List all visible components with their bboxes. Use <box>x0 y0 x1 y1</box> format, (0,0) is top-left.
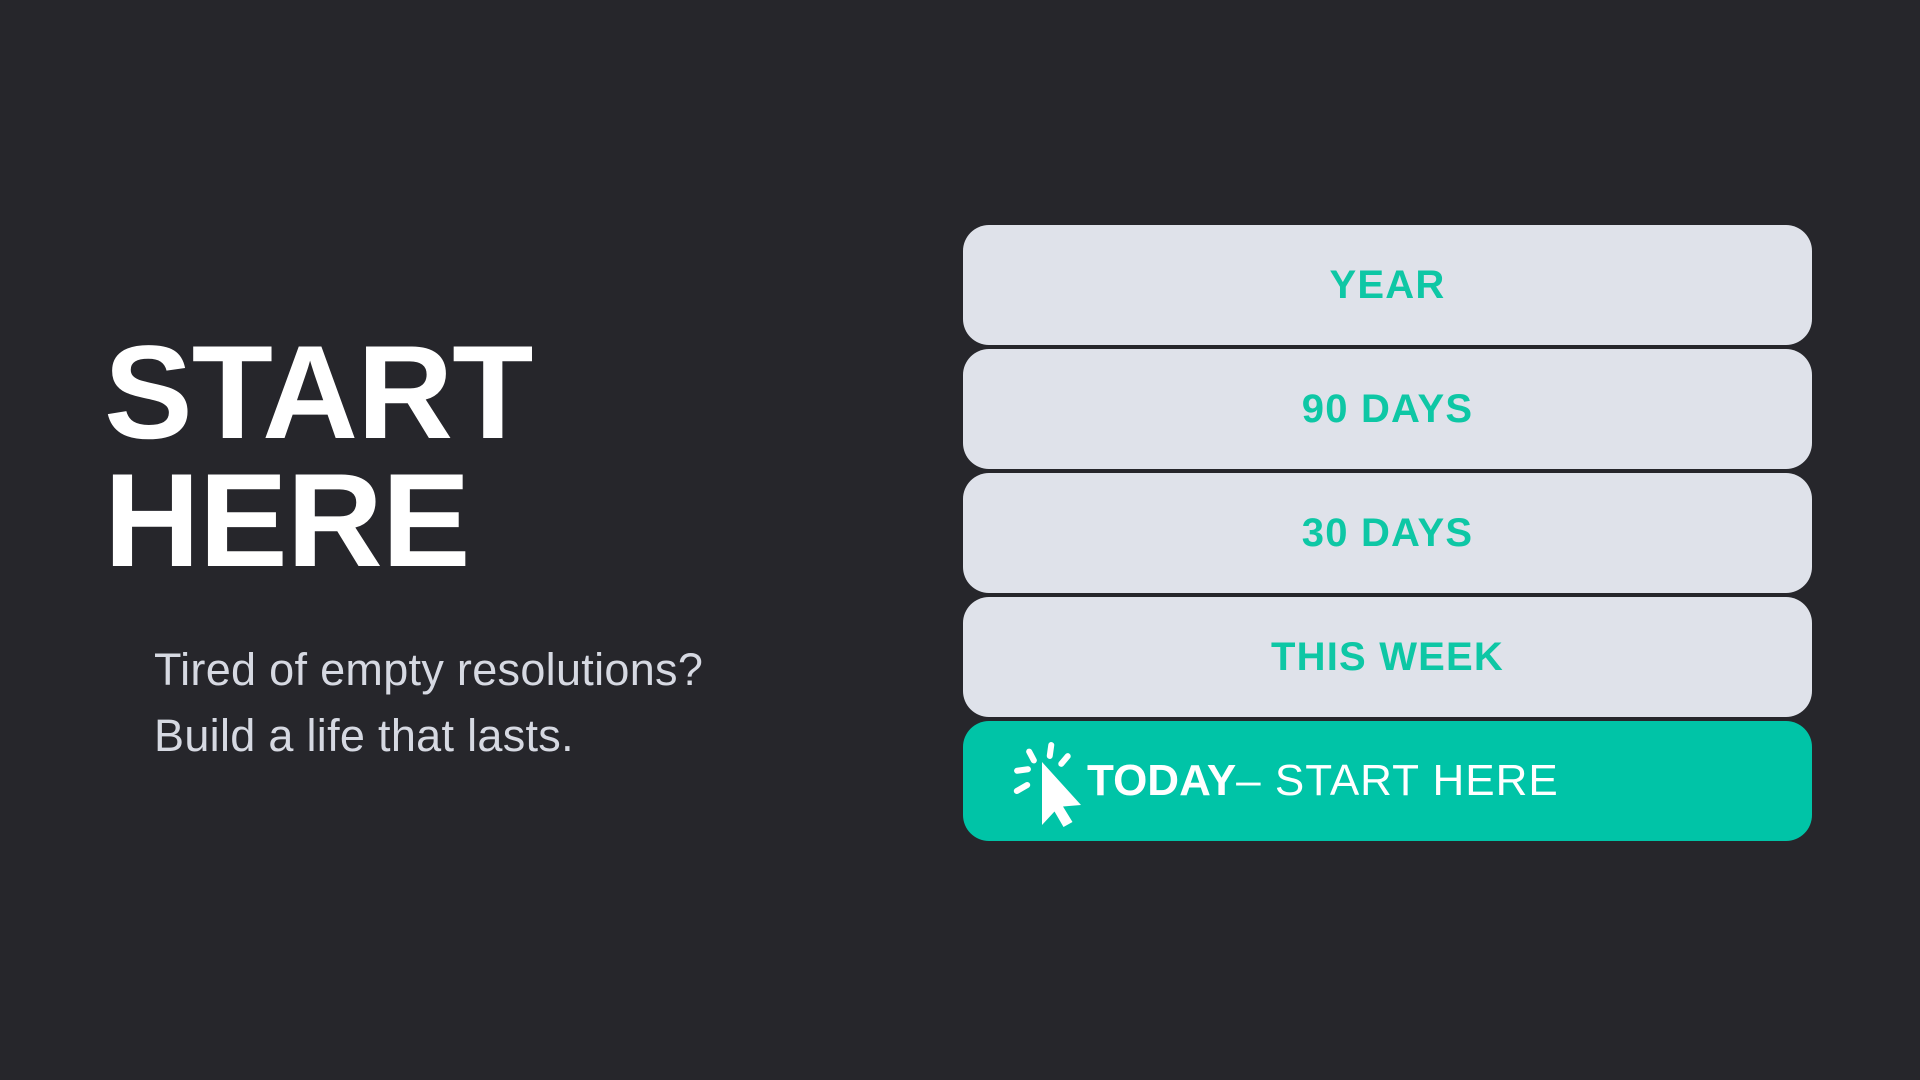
timeframe-button-today-start-here[interactable]: TODAY – START HERE <box>963 721 1812 841</box>
page-title: START HERE <box>104 330 904 585</box>
cta-label-strong: TODAY <box>1087 756 1236 806</box>
timeframe-button-90-days[interactable]: 90 DAYS <box>963 349 1812 469</box>
hero-copy-column: START HERE Tired of empty resolutions? B… <box>104 330 904 768</box>
timeframe-label-this-week: THIS WEEK <box>1271 635 1504 680</box>
hero-subtitle-line-2: Build a life that lasts. <box>154 703 904 768</box>
timeframe-label-year: YEAR <box>1330 263 1446 308</box>
hero-subtitle-line-1: Tired of empty resolutions? <box>154 637 904 702</box>
timeframe-button-this-week[interactable]: THIS WEEK <box>963 597 1812 717</box>
timeframe-label-30-days: 30 DAYS <box>1302 511 1473 556</box>
slide-canvas: START HERE Tired of empty resolutions? B… <box>0 0 1920 1080</box>
timeframe-button-30-days[interactable]: 30 DAYS <box>963 473 1812 593</box>
cta-label: TODAY – START HERE <box>1087 756 1559 806</box>
cta-content: TODAY – START HERE <box>1009 735 1559 827</box>
cta-label-rest: – START HERE <box>1236 756 1559 806</box>
timeframe-label-90-days: 90 DAYS <box>1302 387 1473 432</box>
timeframe-button-year[interactable]: YEAR <box>963 225 1812 345</box>
timeline-option-stack: YEAR 90 DAYS 30 DAYS THIS WEEK <box>963 225 1812 841</box>
click-cursor-icon <box>1009 741 1091 827</box>
hero-subtitle-block: Tired of empty resolutions? Build a life… <box>104 637 904 768</box>
